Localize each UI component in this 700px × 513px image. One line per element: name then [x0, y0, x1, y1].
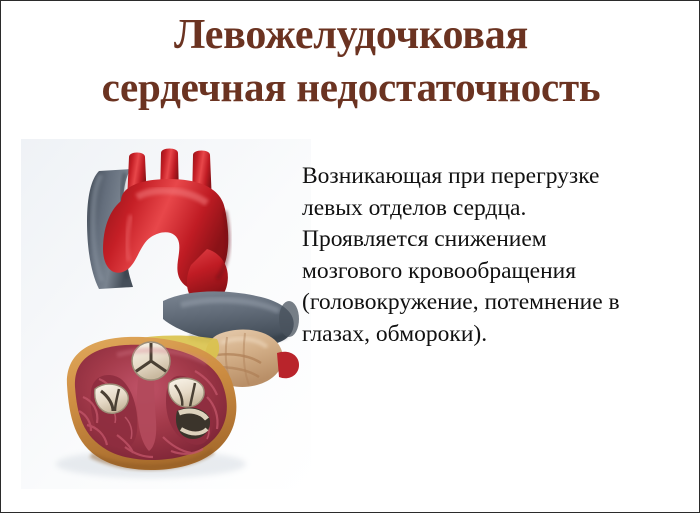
- body-line-6: глазах, обмороки).: [302, 319, 682, 351]
- slide-canvas: Левожелудочковая сердечная недостаточнос…: [0, 0, 700, 513]
- body-line-5: (головокружение, потемнение в: [302, 287, 682, 319]
- body-paragraph: Возникающая при перегрузке левых отделов…: [302, 161, 682, 350]
- body-line-3: Проявляется снижением: [302, 224, 682, 256]
- heart-cross-section-photo: [21, 139, 311, 489]
- aortic-valve: [132, 342, 170, 380]
- body-line-4: мозгового кровообращения: [302, 256, 682, 288]
- body-line-1: Возникающая при перегрузке: [302, 161, 682, 193]
- body-line-2: левых отделов сердца.: [302, 193, 682, 225]
- title-line-2: сердечная недостаточность: [1, 61, 700, 113]
- page-title: Левожелудочковая сердечная недостаточнос…: [1, 9, 700, 113]
- heart-cross-section: [67, 337, 236, 470]
- title-line-1: Левожелудочковая: [1, 9, 700, 61]
